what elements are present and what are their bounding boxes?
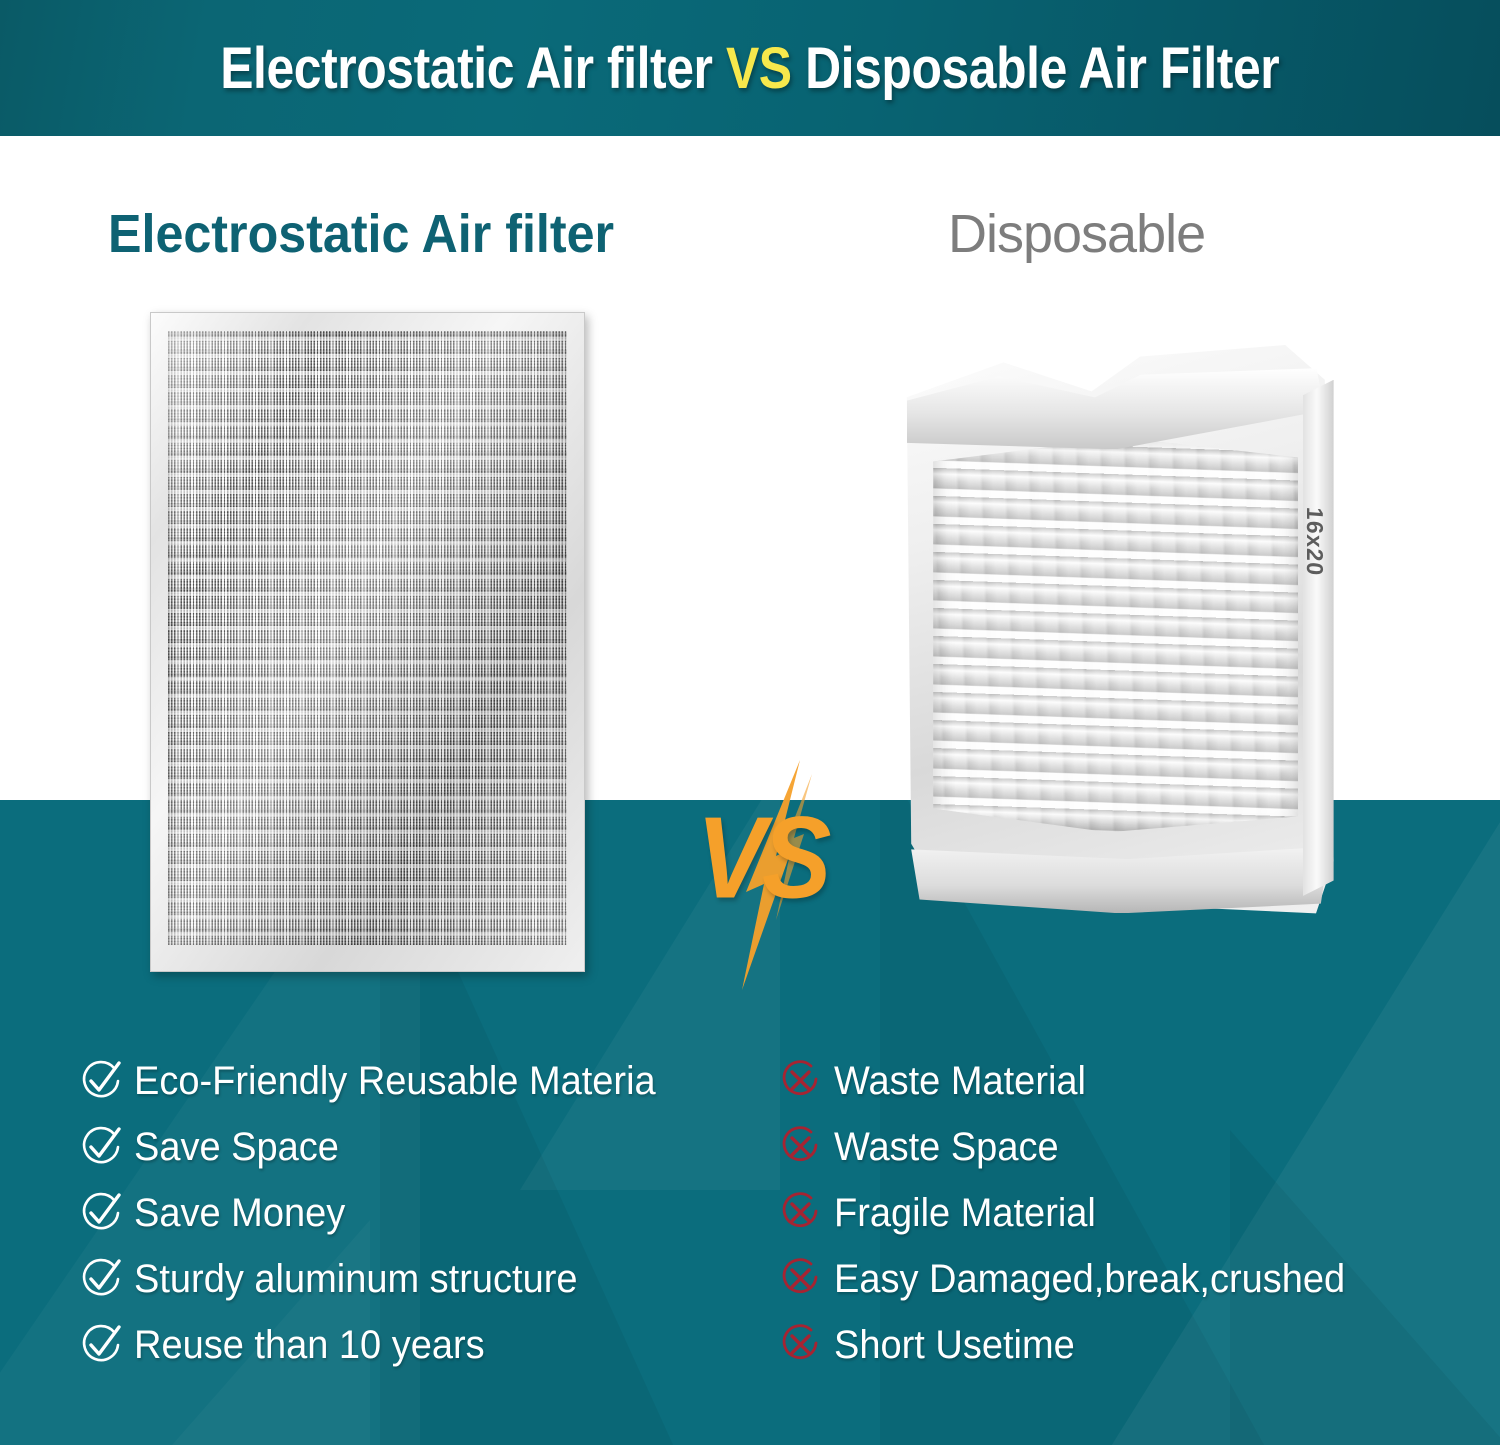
check-circle-icon [78, 1322, 134, 1368]
list-item: Save Space [78, 1114, 778, 1180]
x-circle-icon [778, 1190, 834, 1236]
versus-badge: VS [672, 760, 852, 990]
list-item: Waste Space [778, 1114, 1478, 1180]
cardboard-frame-right [1303, 380, 1334, 896]
versus-label: VS [672, 800, 852, 916]
page-title-part1: Electrostatic Air filter [220, 36, 726, 101]
infographic-page: Electrostatic Air filter VS Disposable A… [0, 0, 1500, 1445]
page-title-part2: Disposable Air Filter [792, 36, 1280, 101]
fiberglass-media [933, 438, 1298, 832]
product-image-electrostatic-filter [150, 312, 585, 972]
x-circle-icon [778, 1124, 834, 1170]
filter-mesh-texture [168, 331, 567, 945]
list-item: Sturdy aluminum structure [78, 1246, 778, 1312]
check-circle-icon [78, 1058, 134, 1104]
list-item-label: Easy Damaged,break,crushed [834, 1257, 1345, 1302]
column-heading-electrostatic: Electrostatic Air filter [108, 203, 614, 265]
list-item: Short Usetime [778, 1312, 1478, 1378]
list-item-label: Sturdy aluminum structure [134, 1257, 578, 1302]
product-image-disposable-filter: 16x20 [898, 345, 1338, 925]
metal-sheen-overlay [168, 331, 567, 945]
list-item-label: Short Usetime [834, 1323, 1075, 1368]
page-title: Electrostatic Air filter VS Disposable A… [220, 35, 1279, 102]
list-item: Fragile Material [778, 1180, 1478, 1246]
list-item-label: Waste Space [834, 1125, 1059, 1170]
list-item-label: Reuse than 10 years [134, 1323, 485, 1368]
list-item-label: Save Money [134, 1191, 345, 1236]
filter-size-label: 16x20 [1301, 506, 1328, 577]
list-item: Easy Damaged,break,crushed [778, 1246, 1478, 1312]
list-item-label: Fragile Material [834, 1191, 1096, 1236]
list-item: Save Money [78, 1180, 778, 1246]
header-banner: Electrostatic Air filter VS Disposable A… [0, 0, 1500, 136]
list-item-label: Eco-Friendly Reusable Materia [134, 1059, 656, 1104]
list-item: Eco-Friendly Reusable Materia [78, 1048, 778, 1114]
list-item: Reuse than 10 years [78, 1312, 778, 1378]
x-circle-icon [778, 1058, 834, 1104]
list-item-label: Waste Material [834, 1059, 1086, 1104]
column-heading-disposable: Disposable [948, 203, 1205, 265]
list-item: Waste Material [778, 1048, 1478, 1114]
check-circle-icon [78, 1256, 134, 1302]
list-item-label: Save Space [134, 1125, 339, 1170]
pros-list: Eco-Friendly Reusable Materia Save Space… [78, 1048, 778, 1378]
cons-list: Waste Material Waste Space Fragile Mater… [778, 1048, 1478, 1378]
page-title-vs: VS [726, 36, 792, 101]
check-circle-icon [78, 1124, 134, 1170]
x-circle-icon [778, 1256, 834, 1302]
x-circle-icon [778, 1322, 834, 1368]
check-circle-icon [78, 1190, 134, 1236]
